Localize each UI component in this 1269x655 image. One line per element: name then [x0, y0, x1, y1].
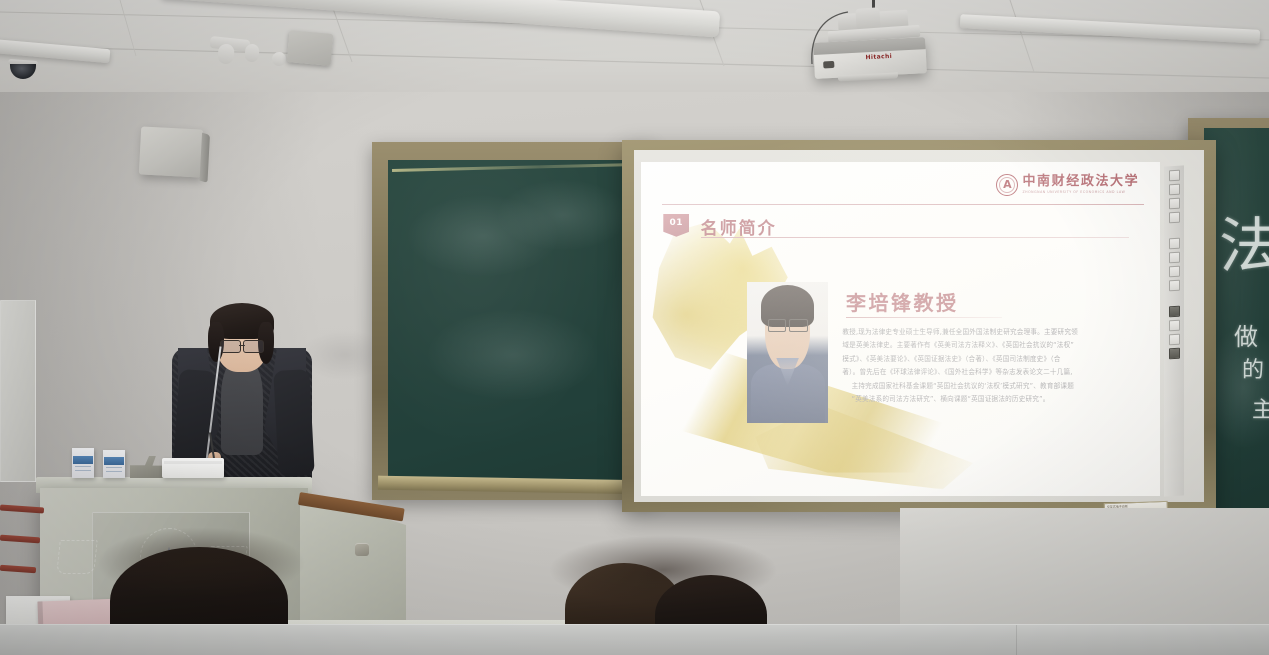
- projected-slide[interactable]: A 中南财经政法大学 ZHONGNAN UNIVERSITY OF ECONOM…: [641, 162, 1160, 496]
- presenter-arm-right: [273, 369, 314, 477]
- projector-wire: [790, 8, 860, 68]
- section-number: 01: [670, 218, 684, 228]
- toolbar-power-icon[interactable]: [1169, 348, 1180, 360]
- toolbar-eraser-icon[interactable]: [1169, 198, 1180, 210]
- bio-line-2: 域是英美法律史。主要著作有《英美司法方法释义》、《英国社会抗议的“法权”: [842, 339, 1131, 353]
- chalk-char-2: 做: [1234, 317, 1258, 352]
- bio-line-6: “英美法系的司法方法研究”、横向课题“英国证据法的历史研究”。: [842, 393, 1131, 407]
- toolbar-shape-icon[interactable]: [1169, 212, 1180, 224]
- toolbar-select-icon[interactable]: [1169, 170, 1180, 182]
- toolbar-undo-icon[interactable]: [1169, 238, 1180, 250]
- professor-name-rule: [846, 317, 1002, 318]
- university-name-block: 中南财经政法大学 ZHONGNAN UNIVERSITY OF ECONOMIC…: [1022, 175, 1139, 194]
- chalk-box-left[interactable]: [72, 448, 94, 478]
- university-name-zh: 中南财经政法大学: [1022, 175, 1139, 188]
- professor-bio: 教授,现为法律史专业硕士生导师,兼任全国外国法制史研究会理事。主要研究领 域是英…: [842, 326, 1131, 407]
- whiteboard-toolbar[interactable]: [1164, 165, 1184, 496]
- professor-portrait: [747, 282, 827, 422]
- bio-line-3: 模式》、《英美法要论》、《英国证据法史》（合著）、《英国司法制度史》（合: [842, 353, 1131, 367]
- chalk-box-right-text: [106, 467, 122, 474]
- professor-name: 李培锋教授: [846, 287, 959, 316]
- chalk-box-left-text: [75, 466, 91, 474]
- chalk-box-right-band: [104, 457, 123, 465]
- toolbar-pen-icon[interactable]: [1169, 184, 1180, 196]
- university-logo: A 中南财经政法大学 ZHONGNAN UNIVERSITY OF ECONOM…: [996, 174, 1139, 196]
- section-title-underline: [701, 237, 1129, 238]
- blackboard-left-surface: [388, 160, 640, 485]
- chalk-tray[interactable]: [162, 458, 224, 478]
- chalk-char-3: 的: [1242, 352, 1264, 384]
- toolbar-save-icon[interactable]: [1169, 280, 1180, 292]
- podium-knob[interactable]: [355, 543, 369, 556]
- junction-box: [287, 30, 334, 66]
- portrait-glasses-icon: [768, 319, 808, 330]
- chalk-box-right[interactable]: [103, 450, 125, 478]
- toolbar-redo-icon[interactable]: [1169, 252, 1180, 264]
- front-desk-seam: [1016, 625, 1017, 655]
- university-seal-icon: A: [996, 174, 1018, 196]
- bio-line-4: 著）。曾先后在《环球法律评论》、《国外社会科学》等杂志发表论文二十几篇,: [842, 366, 1131, 380]
- presenter-glasses-icon: [220, 340, 264, 351]
- chalk-box-left-band: [73, 456, 92, 464]
- university-name-en: ZHONGNAN UNIVERSITY OF ECONOMICS AND LAW: [1022, 190, 1139, 194]
- projector-brand-label: Hitachi: [865, 53, 892, 61]
- front-desk-edge: [0, 624, 1269, 655]
- toolbar-settings-icon[interactable]: [1169, 334, 1180, 346]
- side-cabinet: [0, 300, 36, 482]
- slide-header-rule: [662, 204, 1145, 205]
- podium-left-graphic: [56, 540, 98, 574]
- presenter-inner-top: [221, 358, 263, 454]
- toolbar-page-icon[interactable]: [1169, 266, 1180, 278]
- toolbar-capture-icon[interactable]: [1169, 320, 1180, 332]
- section-title: 名师简介: [701, 214, 777, 239]
- student-center-hair-wisp: [548, 535, 778, 605]
- slide-canvas: A 中南财经政法大学 ZHONGNAN UNIVERSITY OF ECONOM…: [641, 162, 1160, 496]
- seal-letter: A: [1003, 179, 1012, 190]
- chalk-char-1: 法: [1219, 198, 1269, 285]
- bio-line-5: 主持完成国家社科基金课题“英国社会抗议的‘法权’模式研究”、教育部课题: [842, 380, 1131, 394]
- classroom-photo: Hitachi 法 做 的 主 A: [0, 0, 1269, 655]
- chalk-char-4: 主: [1252, 392, 1269, 424]
- student-left-hair-wisp: [96, 527, 306, 599]
- toolbar-print-icon[interactable]: [1169, 306, 1180, 318]
- chalk-smudge-c: [428, 310, 598, 400]
- bio-line-1: 教授,现为法律史专业硕士生导师,兼任全国外国法制史研究会理事。主要研究领: [842, 326, 1131, 340]
- wall-speaker: [139, 126, 203, 177]
- chalk-smudge-b: [498, 180, 628, 250]
